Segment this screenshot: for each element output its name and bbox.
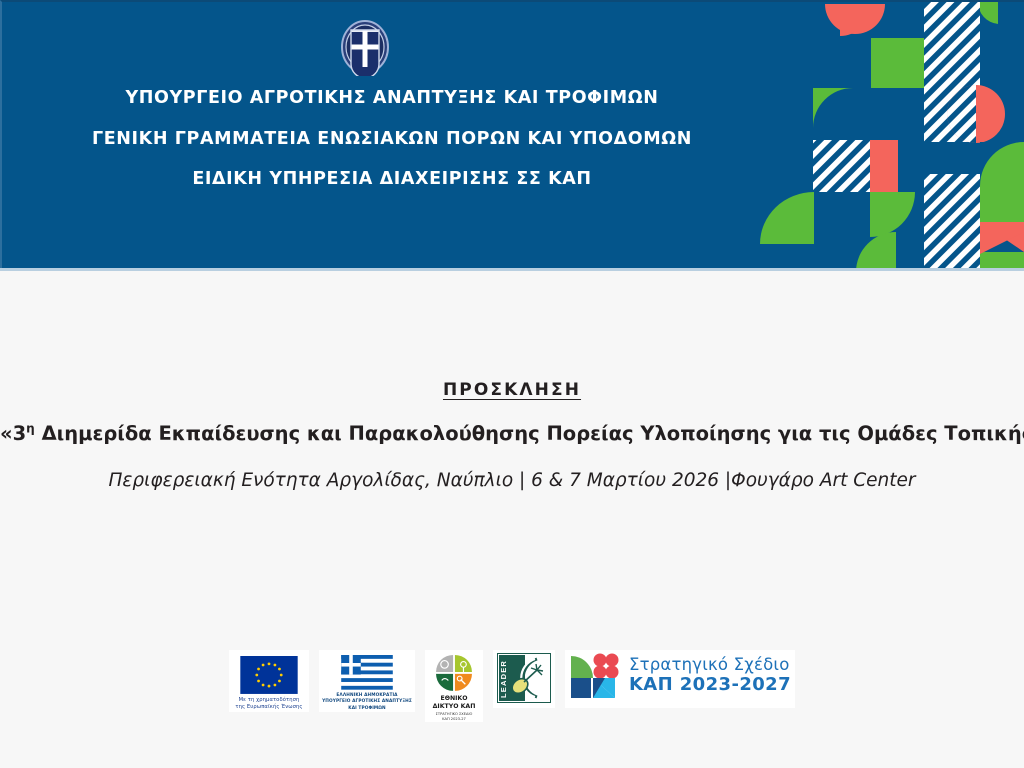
cap-network-quad-icon	[434, 654, 474, 692]
greek-flag-icon	[338, 655, 396, 690]
event-title-rest: Διημερίδα Εκπαίδευσης και Παρακολούθησης…	[35, 422, 1024, 445]
greek-logo-caption: ΕΛΛΗΝΙΚΗ ΔΗΜΟΚΡΑΤΙΑ ΥΠΟΥΡΓΕΙΟ ΑΓΡΟΤΙΚΗΣ …	[319, 693, 415, 712]
geometric-decoration	[760, 2, 1024, 270]
leader-icon: LEADER	[497, 653, 551, 703]
greek-logo-caption-line-2: ΥΠΟΥΡΓΕΙΟ ΑΓΡΟΤΙΚΗΣ ΑΝΑΠΤΥΞΗΣ ΚΑΙ ΤΡΟΦΙΜ…	[319, 699, 415, 712]
invitation-body: ΠΡΟΣΚΛΗΣΗ «3η Διημερίδα Εκπαίδευσης και …	[0, 270, 1024, 768]
event-title-ordinal: η	[26, 422, 35, 436]
invitation-heading: ΠΡΟΣΚΛΗΣΗ	[0, 380, 1024, 400]
eu-flag-icon	[238, 656, 300, 694]
eu-logo-caption: Με τη χρηματοδότηση της Ευρωπαϊκής Ένωση…	[235, 697, 302, 712]
cap-plan-text-line-2: ΚΑΠ 2023-2027	[629, 675, 791, 696]
hellenic-republic-logo: ΕΛΛΗΝΙΚΗ ΔΗΜΟΚΡΑΤΙΑ ΥΠΟΥΡΓΕΙΟ ΑΓΡΟΤΙΚΗΣ …	[319, 650, 415, 712]
cap-plan-text-line-1: Στρατηγικό Σχέδιο	[629, 656, 791, 675]
cap-network-subtitle: ΣΤΡΑΤΗΓΙΚΟ ΣΧΕΔΙΟ ΚΑΠ 2023-27	[436, 712, 473, 722]
ministry-titles: ΥΠΟΥΡΓΕΙΟ ΑΓΡΟΤΙΚΗΣ ΑΝΑΠΤΥΞΗΣ ΚΑΙ ΤΡΟΦΙΜ…	[2, 90, 782, 189]
eu-logo-caption-line-2: της Ευρωπαϊκής Ένωσης	[235, 704, 302, 712]
cap-network-title-line-2: ΔΙΚΤΥΟ ΚΑΠ	[433, 703, 476, 711]
ministry-line-3: ΕΙΔΙΚΗ ΥΠΗΡΕΣΙΑ ΔΙΑΧΕΙΡΙΣΗΣ ΣΣ ΚΑΠ	[2, 171, 782, 189]
cap-network-title: ΕΘΝΙΚΟ ΔΙΚΤΥΟ ΚΑΠ	[433, 695, 476, 711]
header-banner: ΥΠΟΥΡΓΕΙΟ ΑΓΡΟΤΙΚΗΣ ΑΝΑΠΤΥΞΗΣ ΚΑΙ ΤΡΟΦΙΜ…	[0, 0, 1024, 270]
ministry-line-2: ΓΕΝΙΚΗ ΓΡΑΜΜΑΤΕΙΑ ΕΝΩΣΙΑΚΩΝ ΠΟΡΩΝ ΚΑΙ ΥΠ…	[2, 131, 782, 149]
national-cap-network-logo: ΕΘΝΙΚΟ ΔΙΚΤΥΟ ΚΑΠ ΣΤΡΑΤΗΓΙΚΟ ΣΧΕΔΙΟ ΚΑΠ …	[425, 650, 483, 722]
cap-network-title-line-1: ΕΘΝΙΚΟ	[433, 695, 476, 703]
ministry-line-1: ΥΠΟΥΡΓΕΙΟ ΑΓΡΟΤΙΚΗΣ ΑΝΑΠΤΥΞΗΣ ΚΑΙ ΤΡΟΦΙΜ…	[2, 90, 782, 108]
event-details: Περιφερειακή Ενότητα Αργολίδας, Ναύπλιο …	[0, 470, 1024, 491]
leader-vertical-text: LEADER	[499, 660, 508, 698]
greek-coat-of-arms-icon	[334, 18, 396, 76]
footer-logo-strip: Με τη χρηματοδότηση της Ευρωπαϊκής Ένωση…	[0, 650, 1024, 722]
leader-logo: LEADER	[493, 650, 555, 708]
event-title-prefix: «3	[0, 422, 26, 445]
eu-flag-logo: Με τη χρηματοδότηση της Ευρωπαϊκής Ένωση…	[229, 650, 309, 712]
cap-flower-icon	[569, 652, 621, 700]
cap-network-subtitle-line-2: ΚΑΠ 2023-27	[436, 717, 473, 722]
event-title: «3η Διημερίδα Εκπαίδευσης και Παρακολούθ…	[0, 422, 1024, 445]
cap-strategic-plan-logo: Στρατηγικό Σχέδιο ΚΑΠ 2023-2027	[565, 650, 795, 708]
